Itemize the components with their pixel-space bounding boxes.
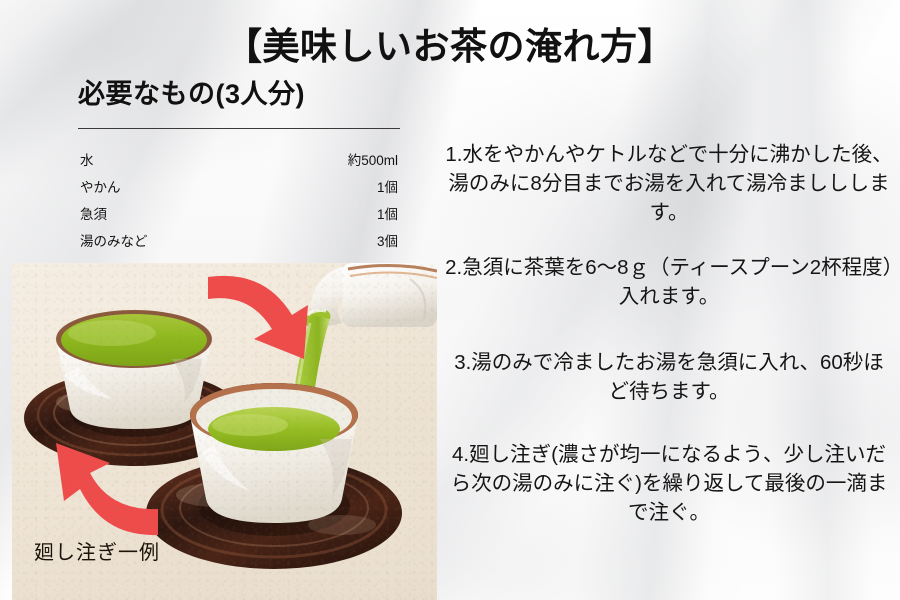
step-item-1: 1.水をやかんやケトルなどで十分に沸かした後、湯のみに8分目までお湯を入れて湯冷… [438, 140, 900, 227]
step-item-4: 4.廻し注ぎ(濃さが均一になるよう、少し注いだら次の湯のみに注ぐ)を繰り返して最… [438, 440, 900, 527]
steps-section: 1.水をやかんやケトルなどで十分に沸かした後、湯のみに8分目までお湯を入れて湯冷… [438, 140, 900, 527]
table-row: 水 約500ml [78, 146, 400, 173]
ingredient-qty: 3個 [262, 227, 400, 254]
table-row: やかん 1個 [78, 173, 400, 200]
ingredient-name: 急須 [78, 200, 262, 227]
teacup-front [190, 383, 358, 523]
ingredient-qty: 1個 [262, 200, 400, 227]
arrow-pour-right-icon [208, 276, 308, 359]
ingredients-section: 必要なもの(3人分) 水 約500ml やかん 1個 急須 1個 湯のみなど 3 [78, 78, 404, 254]
ingredients-subtitle: 必要なもの(3人分) [78, 78, 404, 112]
photo-caption: 廻し注ぎ一例 [34, 541, 160, 565]
table-row: 湯のみなど 3個 [78, 227, 400, 254]
infographic-page: 【美味しいお茶の淹れ方】 必要なもの(3人分) 水 約500ml やかん 1個 … [0, 0, 900, 600]
teacup-back [56, 310, 212, 429]
step-item-2: 2.急須に茶葉を6〜8ｇ（ティースプーン2杯程度）入れます。 [438, 253, 900, 311]
ingredient-qty: 1個 [262, 173, 400, 200]
step-item-3: 3.湯のみで冷ましたお湯を急須に入れ、60秒ほど待ちます。 [438, 348, 900, 406]
page-title: 【美味しいお茶の淹れ方】 [0, 26, 900, 69]
ingredient-name: 水 [78, 146, 262, 173]
table-row: 急須 1個 [78, 200, 400, 227]
ingredients-table: 水 約500ml やかん 1個 急須 1個 湯のみなど 3個 [78, 146, 400, 254]
ingredient-name: やかん [78, 173, 262, 200]
ingredient-name: 湯のみなど [78, 227, 262, 254]
tea-pouring-photo: 廻し注ぎ一例 [12, 263, 437, 600]
ingredient-qty: 約500ml [262, 146, 400, 173]
ingredients-divider [78, 128, 400, 129]
